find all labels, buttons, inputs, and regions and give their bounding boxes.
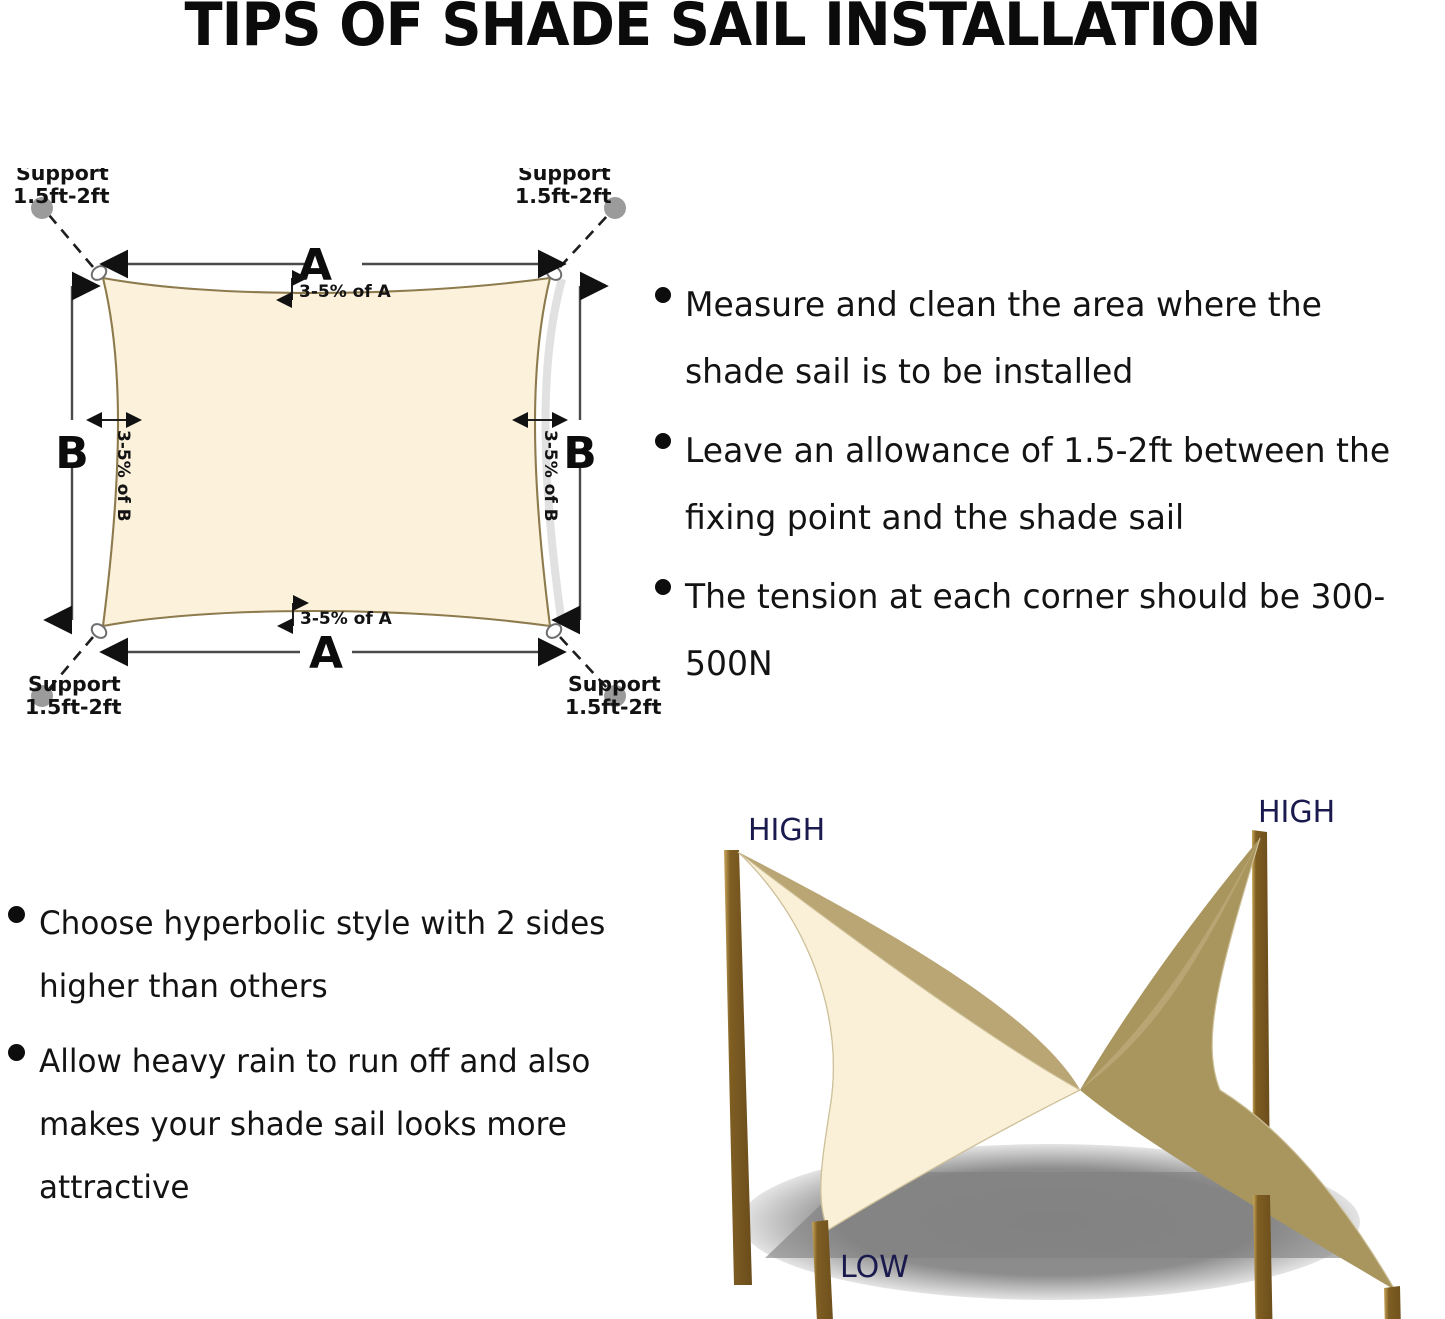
support-label-bottom-left: Support 1.5ft-2ft <box>25 672 122 719</box>
post-front-right <box>1384 1286 1406 1319</box>
support-label-line1: Support <box>28 672 121 696</box>
list-item-label: Measure and clean the area where the sha… <box>685 272 1427 406</box>
support-label-line2: 1.5ft-2ft <box>515 184 612 208</box>
dimension-width-bottom: A <box>128 628 538 679</box>
list-item: Allow heavy rain to run off and also mak… <box>8 1030 628 1219</box>
bullet-dot-icon <box>8 906 25 923</box>
bullet-dot-icon <box>8 1044 25 1061</box>
support-label-line1: Support <box>16 168 109 185</box>
support-label-line2: 1.5ft-2ft <box>25 695 122 719</box>
sag-label-left: 3-5% of B <box>113 430 133 522</box>
bullet-dot-icon <box>655 287 671 303</box>
sail-body <box>103 278 550 626</box>
list-item-label: Leave an allowance of 1.5-2ft between th… <box>685 418 1427 552</box>
tips-list-left: Choose hyperbolic style with 2 sides hig… <box>8 892 628 1231</box>
support-label-line2: 1.5ft-2ft <box>565 695 662 719</box>
support-label-line2: 1.5ft-2ft <box>13 184 110 208</box>
bullet-dot-icon <box>655 433 671 449</box>
sag-top: 3-5% of A <box>292 278 392 302</box>
label-high-back-left: HIGH <box>748 813 825 848</box>
support-label-line1: Support <box>518 168 611 185</box>
support-label-line1: Support <box>568 672 661 696</box>
hyperbolic-shade-sail-diagram: HIGH HIGH LOW LOW <box>660 790 1445 1319</box>
label-high-back-right: HIGH <box>1258 795 1335 830</box>
list-item: Leave an allowance of 1.5-2ft between th… <box>655 418 1445 552</box>
list-item-label: Allow heavy rain to run off and also mak… <box>39 1030 610 1219</box>
dimension-height-right: B <box>563 286 597 620</box>
list-item: The tension at each corner should be 300… <box>655 564 1445 698</box>
list-item: Measure and clean the area where the sha… <box>655 272 1445 406</box>
support-label-top-right: Support 1.5ft-2ft <box>515 168 612 208</box>
support-label-bottom-right: Support 1.5ft-2ft <box>565 672 662 719</box>
list-item: Choose hyperbolic style with 2 sides hig… <box>8 892 628 1018</box>
bullet-dot-icon <box>655 579 671 595</box>
support-label-top-left: Support 1.5ft-2ft <box>13 168 110 208</box>
dimension-height-left: B <box>55 286 89 620</box>
label-low-front-left: LOW <box>840 1250 909 1285</box>
sag-label-right: 3-5% of B <box>540 430 560 522</box>
page-title: TIPS OF SHADE SAIL INSTALLATION <box>51 0 1395 56</box>
rectangular-shade-sail-diagram: Support 1.5ft-2ft Support 1.5ft-2ft Supp… <box>0 168 680 728</box>
sag-left: 3-5% of B <box>102 420 133 522</box>
post-back-left <box>724 850 752 1285</box>
sag-label-bottom: 3-5% of A <box>300 609 393 629</box>
dimension-label-B-right: B <box>563 428 597 479</box>
list-item-label: The tension at each corner should be 300… <box>685 564 1427 698</box>
tips-list-right: Measure and clean the area where the sha… <box>655 272 1445 710</box>
dimension-label-B-left: B <box>55 428 89 479</box>
dimension-label-A-bottom: A <box>309 628 343 679</box>
list-item-label: Choose hyperbolic style with 2 sides hig… <box>39 892 610 1018</box>
sag-label-top: 3-5% of A <box>299 282 392 302</box>
